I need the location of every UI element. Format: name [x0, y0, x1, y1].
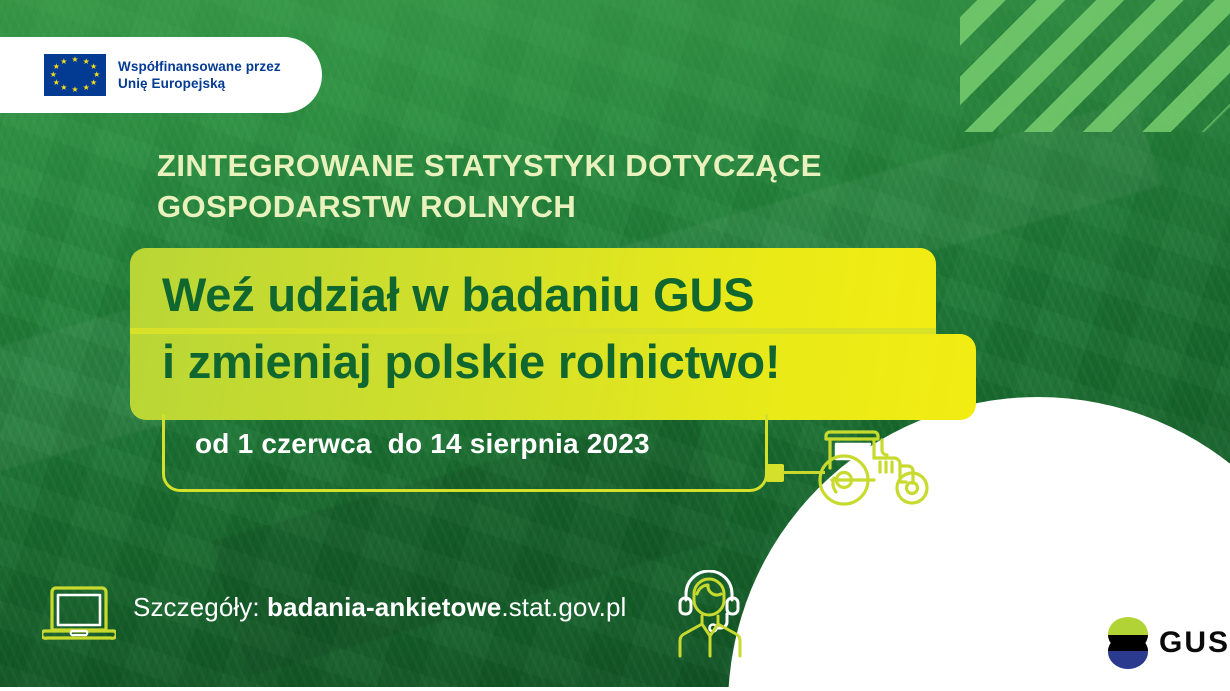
promotional-banner: ★ ★ ★ ★ ★ ★ ★ ★ ★ ★ ★ ★ Współfinansowane… — [0, 0, 1230, 691]
date-range-box: od 1 czerwca do 14 sierpnia 2023 — [162, 414, 768, 492]
infoline-label: Infolinia: — [756, 595, 861, 625]
gus-logo: GUS — [1105, 617, 1230, 669]
date-range-label: od 1 czerwca do 14 sierpnia 2023 — [195, 428, 650, 460]
eu-badge-text: Współfinansowane przez Unię Europejską — [118, 58, 281, 93]
callout-text: Weź udział w badaniu GUS i zmieniaj pols… — [162, 262, 962, 395]
eu-badge-line1: Współfinansowane przez — [118, 58, 281, 75]
details-site-rest: .stat.gov.pl — [501, 592, 626, 622]
details-text: Szczegóły: badania-ankietowe.stat.gov.pl — [133, 592, 626, 623]
tractor-icon — [808, 418, 938, 510]
laptop-icon — [42, 586, 116, 644]
connector-tab — [766, 464, 784, 482]
eu-flag-icon: ★ ★ ★ ★ ★ ★ ★ ★ ★ ★ ★ ★ — [44, 54, 106, 96]
infoline-text: Infolinia: 22 279 99 99 — [756, 595, 1014, 626]
headset-operator-icon — [672, 570, 746, 658]
eu-badge-line2: Unię Europejską — [118, 75, 281, 92]
callout-line2: i zmieniaj polskie rolnictwo! — [162, 329, 962, 396]
gus-logo-icon — [1105, 617, 1152, 669]
callout-line1: Weź udział w badaniu GUS — [162, 262, 962, 329]
gus-logo-text: GUS — [1159, 626, 1230, 660]
white-bottom-strip — [0, 687, 1230, 691]
details-site-bold: badania-ankietowe — [267, 592, 501, 622]
details-label: Szczegóły: — [133, 592, 267, 622]
page-title: ZINTEGROWANE STATYSTYKI DOTYCZĄCE GOSPOD… — [157, 145, 917, 227]
infoline-phone: 22 279 99 99 — [861, 595, 1014, 625]
eu-cofunding-badge: ★ ★ ★ ★ ★ ★ ★ ★ ★ ★ ★ ★ Współfinansowane… — [0, 37, 322, 113]
main-callout: Weź udział w badaniu GUS i zmieniaj pols… — [130, 248, 976, 420]
